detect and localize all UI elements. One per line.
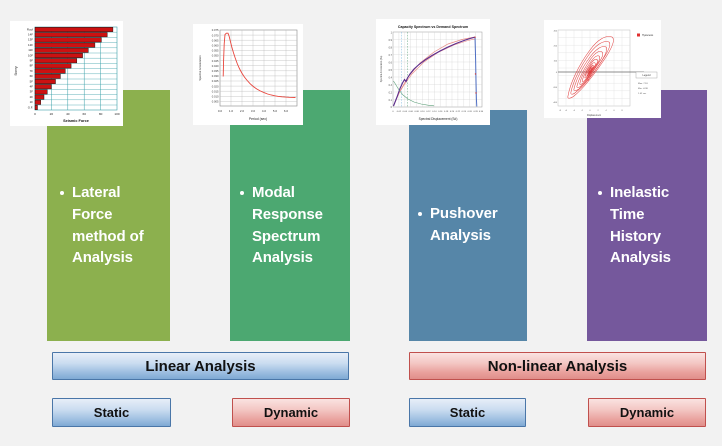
svg-text:Legend: Legend (643, 74, 652, 77)
svg-text:7F: 7F (30, 69, 34, 73)
svg-text:0.0: 0.0 (218, 109, 223, 113)
svg-text:0.015: 0.015 (212, 89, 219, 93)
svg-text:Seismic Force: Seismic Force (63, 119, 89, 123)
column-label-modal-response-spectrum: Modal Response Spectrum Analysis (252, 182, 344, 269)
svg-text:0.005: 0.005 (212, 100, 219, 104)
bullet-icon (60, 191, 64, 195)
svg-text:0.020: 0.020 (212, 84, 219, 88)
svg-text:Min: -6.98: Min: -6.98 (638, 88, 649, 90)
svg-text:5.0: 5.0 (273, 109, 278, 113)
column-text-pushover: Pushover Analysis (418, 203, 522, 247)
sub-bar-label-linear-dynamic: Dynamic (264, 405, 318, 420)
svg-text:Hysteresis: Hysteresis (642, 34, 654, 37)
response-spectrum-svg: 0.075 0.070 0.065 0.060 0.055 0.050 0.04… (193, 24, 303, 125)
category-bar-linear-analysis[interactable]: Linear Analysis (52, 352, 349, 380)
svg-text:3F: 3F (30, 90, 34, 94)
svg-text:0.025: 0.025 (212, 79, 219, 83)
svg-text:0.065: 0.065 (212, 38, 219, 42)
svg-text:Spectral Acceleration (Sa): Spectral Acceleration (Sa) (380, 55, 383, 82)
svg-text:Capacity Spectrum vs Demand Sp: Capacity Spectrum vs Demand Spectrum (398, 25, 468, 29)
slide-canvas: Lateral Force method of Analysis Modal R… (0, 0, 722, 446)
svg-text:40: 40 (66, 112, 70, 116)
svg-text:0.075: 0.075 (212, 28, 219, 32)
svg-text:4.0: 4.0 (262, 109, 267, 113)
storey-shear-svg: Roof 14F 13F 12F 11F 10F 9F 8F 7F 6F 5F … (10, 21, 123, 126)
svg-text:6F: 6F (30, 74, 34, 78)
svg-text:2.0: 2.0 (240, 109, 245, 113)
bullet-icon (240, 191, 244, 195)
svg-text:1.0: 1.0 (229, 109, 234, 113)
svg-text:Period (sec): Period (sec) (249, 117, 267, 121)
legend-swatch (637, 34, 640, 37)
column-text-lateral-force: Lateral Force method of Analysis (60, 182, 162, 269)
thumbnail-response-spectrum-chart[interactable]: 0.075 0.070 0.065 0.060 0.055 0.050 0.04… (193, 24, 303, 125)
svg-text:1.42 sec: 1.42 sec (638, 93, 647, 95)
sub-bar-linear-static[interactable]: Static (52, 398, 171, 427)
svg-text:0.045: 0.045 (212, 59, 219, 63)
svg-text:100: 100 (114, 112, 119, 116)
thumbnail-capacity-demand-spectrum-chart[interactable]: Capacity Spectrum vs Demand Spectrum (376, 19, 490, 125)
svg-text:13F: 13F (28, 38, 33, 42)
column-label-lateral-force: Lateral Force method of Analysis (72, 182, 162, 269)
svg-text:60: 60 (82, 112, 86, 116)
svg-text:Spectral Acceleration: Spectral Acceleration (198, 55, 202, 81)
sub-bar-linear-dynamic[interactable]: Dynamic (232, 398, 350, 427)
bullet-icon (418, 212, 422, 216)
sub-bar-nonlinear-static[interactable]: Static (409, 398, 526, 427)
svg-text:6.0: 6.0 (284, 109, 289, 113)
column-text-inelastic-time-history: Inelastic Time History Analysis (598, 182, 702, 269)
hysteresis-svg: Hysteresis Legend Max: 7.53 Min: -6.98 1… (544, 20, 661, 118)
svg-text:0.030: 0.030 (212, 74, 219, 78)
sub-bar-label-linear-static: Static (94, 405, 129, 420)
column-text-modal-response-spectrum: Modal Response Spectrum Analysis (240, 182, 344, 269)
svg-text:0.055: 0.055 (212, 49, 219, 53)
column-label-pushover: Pushover Analysis (430, 203, 522, 247)
svg-text:4F: 4F (30, 85, 34, 89)
category-bar-label-nonlinear: Non-linear Analysis (488, 358, 627, 375)
category-bar-non-linear-analysis[interactable]: Non-linear Analysis (409, 352, 706, 380)
column-label-inelastic-time-history: Inelastic Time History Analysis (610, 182, 702, 269)
svg-text:2F: 2F (30, 95, 34, 99)
svg-text:9F: 9F (30, 59, 34, 63)
category-bar-label-linear: Linear Analysis (145, 358, 255, 375)
svg-text:3.0: 3.0 (251, 109, 256, 113)
svg-text:80: 80 (99, 112, 103, 116)
thumbnail-hysteresis-chart[interactable]: Hysteresis Legend Max: 7.53 Min: -6.98 1… (544, 20, 661, 118)
svg-text:Displacement: Displacement (587, 114, 601, 117)
bullet-icon (598, 191, 602, 195)
svg-text:11F: 11F (28, 48, 33, 52)
thumbnail-storey-shear-chart[interactable]: Roof 14F 13F 12F 11F 10F 9F 8F 7F 6F 5F … (10, 21, 123, 126)
svg-text:Max: 7.53: Max: 7.53 (638, 83, 648, 85)
svg-text:1F: 1F (30, 100, 34, 104)
svg-text:Roof: Roof (27, 27, 33, 31)
svg-text:Spectral Displacement (Sd): Spectral Displacement (Sd) (419, 117, 458, 121)
svg-text:0.040: 0.040 (212, 64, 219, 68)
svg-text:20: 20 (50, 112, 54, 116)
svg-text:Storey: Storey (14, 66, 18, 76)
svg-text:0.050: 0.050 (212, 54, 219, 58)
svg-text:12F: 12F (28, 43, 33, 47)
sub-bar-label-nonlinear-static: Static (450, 405, 485, 420)
svg-text:G.F.: G.F. (28, 105, 33, 109)
svg-text:0.035: 0.035 (212, 69, 219, 73)
sub-bar-label-nonlinear-dynamic: Dynamic (620, 405, 674, 420)
svg-text:5F: 5F (30, 79, 34, 83)
svg-text:10F: 10F (28, 53, 33, 57)
svg-text:14F: 14F (28, 33, 33, 37)
svg-text:0: 0 (34, 112, 36, 116)
svg-text:0.060: 0.060 (212, 44, 219, 48)
svg-text:0.070: 0.070 (212, 33, 219, 37)
capacity-demand-svg: Capacity Spectrum vs Demand Spectrum (376, 19, 490, 125)
sub-bar-nonlinear-dynamic[interactable]: Dynamic (588, 398, 706, 427)
svg-text:8F: 8F (30, 64, 34, 68)
svg-text:0.010: 0.010 (212, 95, 219, 99)
